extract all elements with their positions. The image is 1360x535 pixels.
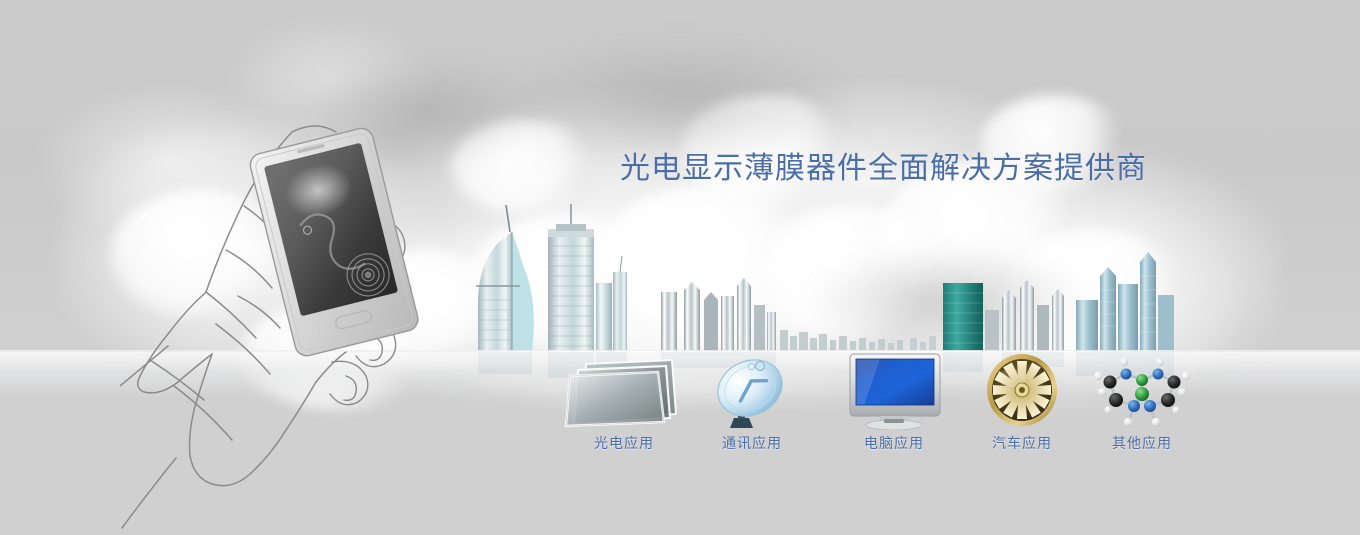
right-skyline-cluster — [910, 252, 1174, 352]
app-art-computer — [830, 352, 958, 430]
application-label: 电脑应用 — [830, 433, 958, 453]
application-item-automotive[interactable]: 汽车应用 — [958, 352, 1086, 464]
molecule-model-icon — [1078, 352, 1206, 430]
application-label: 汽车应用 — [958, 433, 1086, 453]
application-item-optoelectronic[interactable]: 光电应用 — [560, 352, 688, 464]
application-item-computer[interactable]: 电脑应用 — [830, 352, 958, 464]
computer-monitor-icon — [830, 352, 958, 430]
page-title: 光电显示薄膜器件全面解决方案提供商 — [620, 143, 1147, 187]
application-item-communication[interactable]: 通讯应用 — [688, 352, 816, 464]
hand-holding-phone-illustration — [120, 110, 500, 530]
satellite-dish-icon — [688, 352, 816, 430]
app-art-automotive — [958, 352, 1086, 430]
application-item-other[interactable]: 其他应用 — [1078, 352, 1206, 464]
smartphone — [248, 126, 421, 358]
application-label: 其他应用 — [1078, 433, 1206, 453]
app-art-communication — [688, 352, 816, 430]
mid-skyline-cluster — [661, 278, 903, 352]
app-art-other — [1078, 352, 1206, 430]
central-tall-tower — [548, 204, 627, 352]
application-label: 光电应用 — [560, 433, 688, 453]
app-art-optoelectronic — [560, 352, 688, 430]
car-wheel-icon — [958, 352, 1086, 430]
glass-film-sheets-icon — [560, 352, 688, 430]
application-label: 通讯应用 — [688, 433, 816, 453]
application-icons-row: 光电应用 — [560, 352, 1200, 467]
hero-banner: 光电显示薄膜器件全面解决方案提供商 — [0, 0, 1360, 535]
